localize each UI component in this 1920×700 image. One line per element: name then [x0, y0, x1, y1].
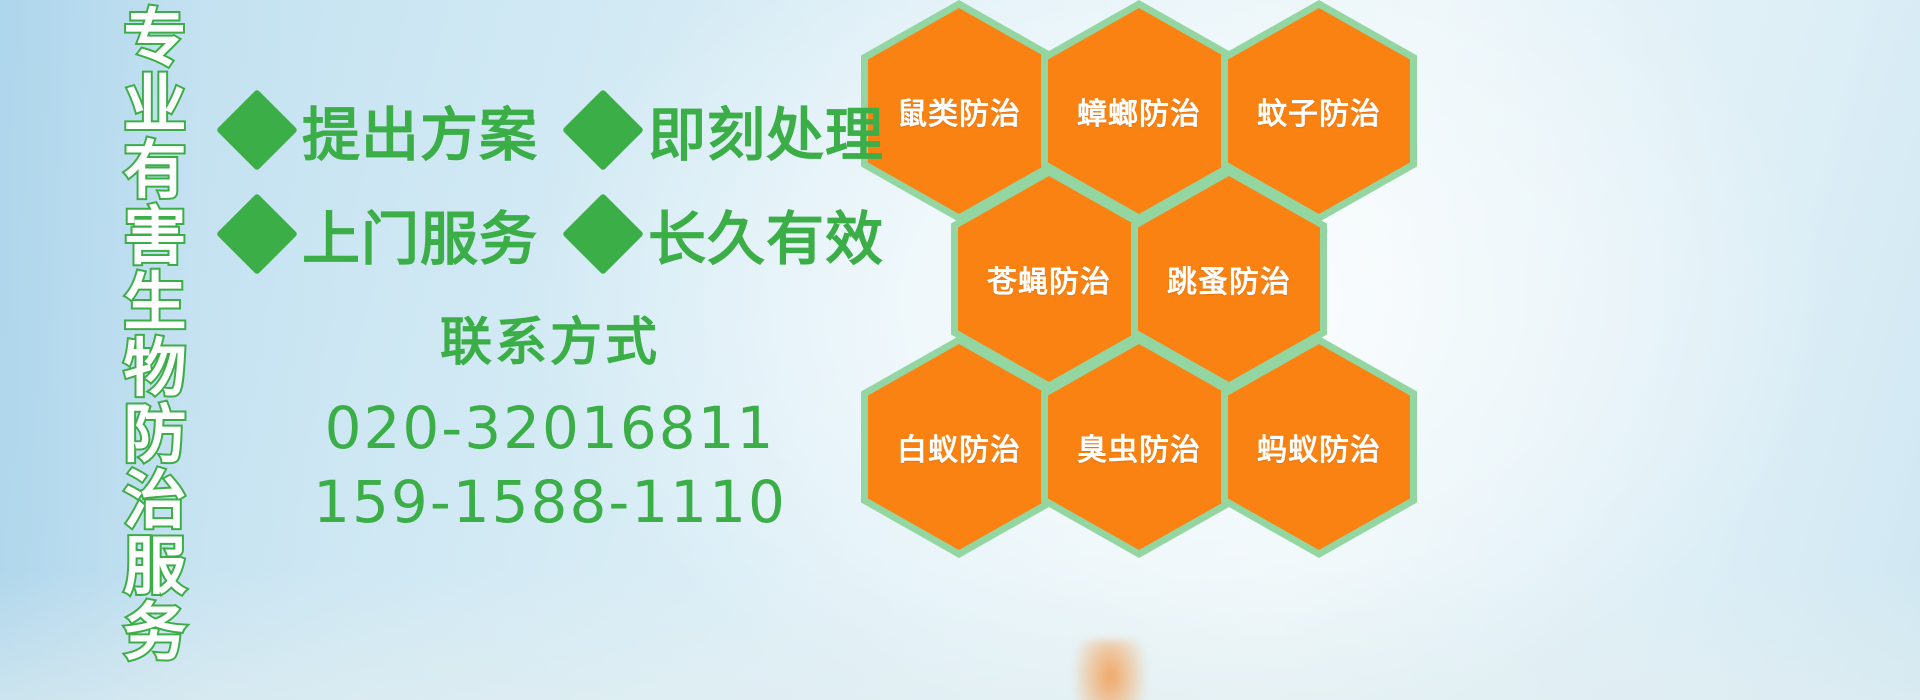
feature-row: 提出方案 即刻处理: [228, 78, 868, 182]
vertical-headline-char: 物: [124, 336, 187, 402]
diamond-icon: [562, 193, 644, 275]
feature-label: 提出方案: [302, 88, 538, 172]
vertical-headline-char: 务: [124, 600, 187, 666]
vertical-headline-char: 治: [124, 468, 187, 534]
diamond-icon: [216, 193, 298, 275]
vertical-headline: 专 业 有 害 生 物 防 治 服 务: [108, 6, 202, 696]
vertical-headline-char: 有: [124, 138, 187, 204]
contact-title: 联系方式: [300, 300, 800, 375]
vertical-headline-char: 服: [124, 534, 187, 600]
feature-label: 即刻处理: [648, 88, 884, 172]
service-label: 白蚁防治: [897, 425, 1021, 469]
feature-item-long-lasting: 长久有效: [574, 192, 884, 276]
service-label: 蚊子防治: [1257, 89, 1381, 133]
feature-list: 提出方案 即刻处理 上门服务 长久有效: [228, 78, 868, 286]
feature-item-immediate-handling: 即刻处理: [574, 88, 884, 172]
vertical-headline-char: 生: [124, 270, 187, 336]
feature-label: 长久有效: [648, 192, 884, 276]
service-hexagon-grid: 鼠类防治 蟑螂防治 蚊子防治 苍蝇防治 跳蚤防治 白蚁防治 臭虫防治: [855, 0, 1475, 552]
feature-item-propose-plan: 提出方案: [228, 88, 538, 172]
diamond-icon: [216, 89, 298, 171]
service-label: 鼠类防治: [897, 89, 1021, 133]
service-label: 蟑螂防治: [1077, 89, 1201, 133]
feature-row: 上门服务 长久有效: [228, 182, 868, 286]
vertical-headline-char: 专: [124, 6, 187, 72]
service-label: 蚂蚁防治: [1257, 425, 1381, 469]
pest-control-banner: 专 业 有 害 生 物 防 治 服 务 提出方案 即刻处理 上门服务: [0, 0, 1920, 700]
feature-item-onsite-service: 上门服务: [228, 192, 538, 276]
phone-landline[interactable]: 020-32016811: [300, 391, 800, 465]
vertical-headline-char: 业: [124, 72, 187, 138]
service-label: 跳蚤防治: [1167, 257, 1291, 301]
contact-block: 联系方式 020-32016811 159-1588-1110: [300, 300, 800, 539]
service-label: 臭虫防治: [1077, 425, 1201, 469]
background-orange-blur: [1075, 640, 1145, 700]
vertical-headline-char: 防: [124, 402, 187, 468]
diamond-icon: [562, 89, 644, 171]
vertical-headline-char: 害: [124, 204, 187, 270]
service-label: 苍蝇防治: [987, 257, 1111, 301]
feature-label: 上门服务: [302, 192, 538, 276]
background-bottom-haze: [0, 570, 1920, 700]
phone-mobile[interactable]: 159-1588-1110: [300, 465, 800, 539]
